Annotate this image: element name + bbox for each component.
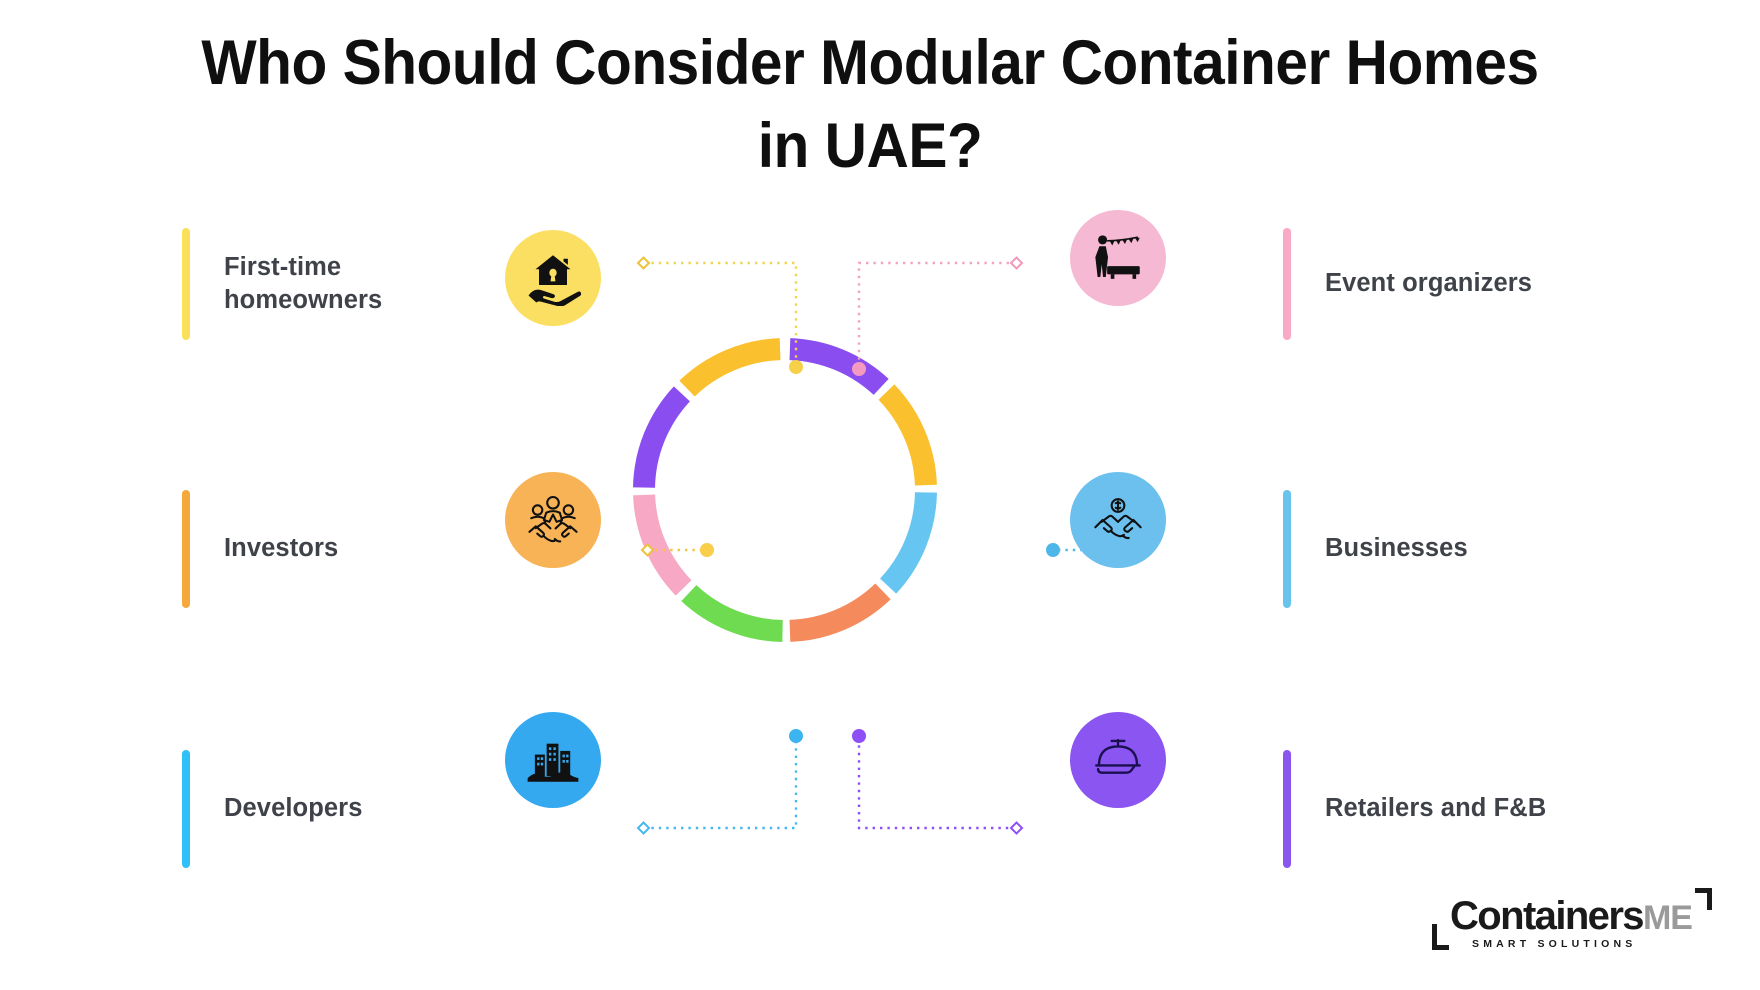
donut-segment[interactable] — [888, 492, 926, 586]
legend-item-event-organizers[interactable]: Event organizers — [1283, 228, 1532, 340]
legend-label-event-organizers: Event organizers — [1325, 267, 1532, 300]
legend-label-retailers-and-fnb: Retailers and F&B — [1325, 792, 1546, 825]
legend-item-developers[interactable]: Developers — [182, 750, 363, 868]
page-title: Who Should Consider Modular Container Ho… — [200, 22, 1539, 188]
legend-label-developers: Developers — [224, 792, 363, 825]
icon-circle-event-organizers[interactable] — [1070, 210, 1166, 306]
house-in-hand-icon — [525, 250, 581, 306]
donut-segment[interactable] — [689, 593, 783, 631]
donut-segment[interactable] — [886, 392, 925, 485]
icon-circle-retailers-and-fnb[interactable] — [1070, 712, 1166, 808]
infographic-canvas: Who Should Consider Modular Container Ho… — [0, 0, 1760, 990]
logo-bracket-bottom-left — [1432, 924, 1449, 950]
accent-bar — [182, 490, 190, 608]
connector-first-time-homeowners — [630, 255, 810, 375]
legend-label-investors: Investors — [224, 532, 338, 565]
logo-name-main: Containers — [1450, 894, 1643, 938]
connector-line — [630, 255, 810, 375]
food-cloche-icon — [1089, 731, 1147, 789]
accent-bar — [182, 750, 190, 868]
icon-circle-investors[interactable] — [505, 472, 601, 568]
connector-investors — [630, 540, 720, 560]
icon-circle-developers[interactable] — [505, 712, 601, 808]
legend-item-investors[interactable]: Investors — [182, 490, 338, 608]
logo-name-suffix: ME — [1643, 899, 1692, 937]
logo-wordmark: ContainersME — [1450, 894, 1692, 939]
business-handshake-icon — [1089, 491, 1147, 549]
legend-label-first-time-homeowners: First-time homeowners — [224, 251, 382, 317]
connector-retailers-and-fnb — [845, 730, 1025, 840]
city-buildings-icon — [524, 731, 582, 789]
brand-logo: ContainersME SMART SOLUTIONS — [1432, 888, 1712, 960]
connector-line — [845, 255, 1025, 375]
donut-segment[interactable] — [644, 394, 682, 488]
connector-event-organizers — [845, 255, 1025, 375]
accent-bar — [1283, 750, 1291, 868]
connector-line — [845, 730, 1025, 840]
legend-item-businesses[interactable]: Businesses — [1283, 490, 1468, 608]
connector-developers — [630, 730, 810, 840]
legend-item-first-time-homeowners[interactable]: First-time homeowners — [182, 228, 382, 340]
logo-bracket-top-right — [1695, 888, 1712, 910]
icon-circle-first-time-homeowners[interactable] — [505, 230, 601, 326]
accent-bar — [182, 228, 190, 340]
icon-circle-businesses[interactable] — [1070, 472, 1166, 568]
accent-bar — [1283, 228, 1291, 340]
connector-line — [630, 730, 810, 840]
event-bunting-icon — [1089, 229, 1147, 287]
legend-item-retailers-and-fnb[interactable]: Retailers and F&B — [1283, 750, 1546, 868]
donut-segment[interactable] — [790, 591, 883, 630]
connector-line — [630, 540, 720, 560]
accent-bar — [1283, 490, 1291, 608]
investors-handshake-icon — [524, 491, 582, 549]
legend-label-businesses: Businesses — [1325, 532, 1468, 565]
logo-tagline: SMART SOLUTIONS — [1472, 938, 1637, 950]
